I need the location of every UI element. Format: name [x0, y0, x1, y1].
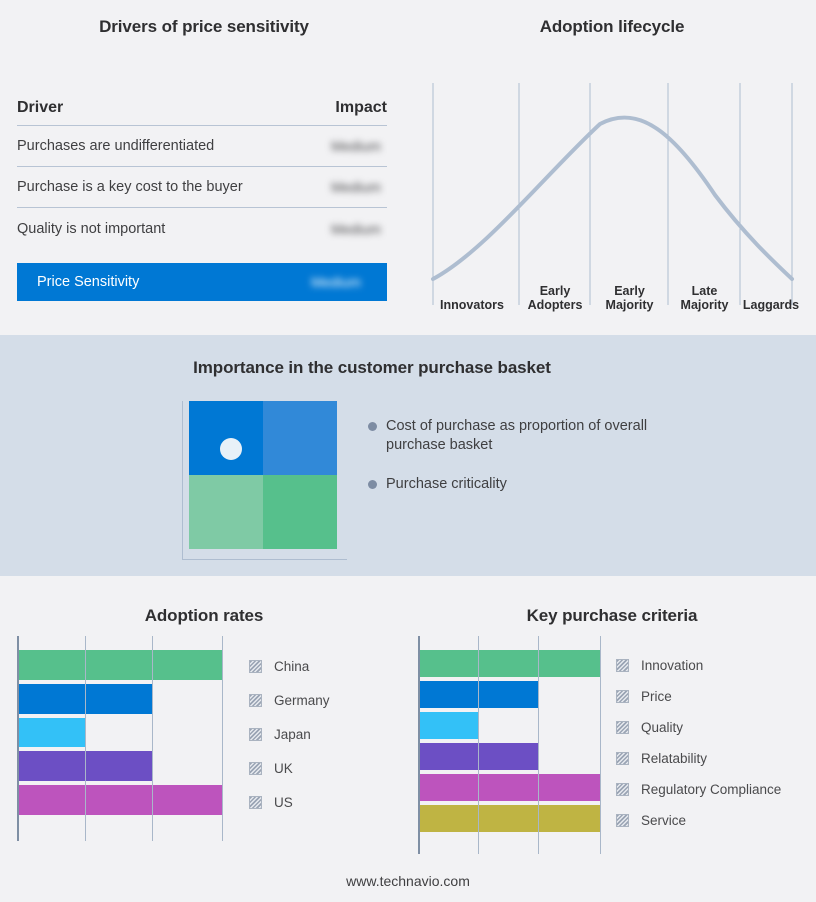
quadrant-cells [189, 401, 337, 549]
legend-label: Regulatory Compliance [641, 782, 781, 797]
gridline [85, 636, 86, 841]
stage-label-late-majority: Late Majority [670, 284, 739, 312]
legend-swatch-icon [249, 762, 262, 775]
legend-label: Cost of purchase as proportion of overal… [386, 417, 648, 455]
driver-label: Quality is not important [17, 221, 165, 237]
bar-china [17, 650, 222, 680]
key-purchase-criteria-title: Key purchase criteria [408, 606, 816, 626]
bell-curve-path [433, 118, 792, 279]
legend-item: Germany [249, 684, 330, 718]
legend-label: Germany [274, 693, 330, 708]
lifecycle-title: Adoption lifecycle [408, 17, 816, 37]
gridline [152, 636, 153, 841]
bar-service [418, 805, 600, 832]
adoption-rates-chart: ChinaGermanyJapanUKUS [17, 636, 391, 841]
adoption-rates-panel: Adoption rates ChinaGermanyJapanUKUS [0, 576, 408, 902]
quadrant-top-right [263, 401, 337, 475]
legend-label: Quality [641, 720, 683, 735]
legend-label: UK [274, 761, 293, 776]
driver-label: Purchase is a key cost to the buyer [17, 179, 243, 195]
quadrant-y-axis [182, 401, 183, 559]
value-axis [17, 636, 19, 841]
gridline [478, 636, 479, 854]
column-header-driver: Driver [17, 99, 63, 117]
key-purchase-criteria-chart: InnovationPriceQualityRelatabilityRegula… [410, 636, 810, 854]
adoption-lifecycle-panel: Adoption lifecycle Innovators Early Adop… [408, 0, 816, 335]
legend-swatch-icon [249, 796, 262, 809]
bullet-icon [368, 422, 377, 431]
legend-item: UK [249, 751, 330, 785]
legend-swatch-icon [616, 659, 629, 672]
impact-value-blurred: Medium [305, 274, 367, 290]
bar-innovation [418, 650, 600, 677]
quadrant-matrix [182, 401, 347, 566]
legend-swatch-icon [616, 783, 629, 796]
drivers-table: Driver Impact Purchases are undifferenti… [17, 90, 387, 301]
bar-us [17, 785, 222, 815]
criteria-legend: InnovationPriceQualityRelatabilityRegula… [616, 650, 781, 836]
stage-label-laggards: Laggards [742, 298, 800, 312]
lifecycle-stage-labels: Innovators Early Adopters Early Majority… [425, 272, 799, 312]
quadrant-bottom-right [263, 475, 337, 549]
table-header-row: Driver Impact [17, 90, 387, 126]
impact-value-blurred: Medium [325, 138, 387, 154]
legend-item: US [249, 785, 330, 819]
driver-label: Price Sensitivity [37, 274, 139, 290]
table-row: Quality is not important Medium [17, 208, 387, 249]
criteria-plot-area [418, 636, 600, 854]
purchase-basket-panel: Importance in the customer purchase bask… [0, 335, 816, 576]
drivers-panel: Drivers of price sensitivity Driver Impa… [0, 0, 408, 335]
adoption-plot-area [17, 636, 222, 841]
bar-japan [17, 718, 85, 748]
legend-label: China [274, 659, 309, 674]
legend-label: Japan [274, 727, 311, 742]
gridline [222, 636, 223, 841]
legend-label: US [274, 795, 293, 810]
key-purchase-criteria-panel: Key purchase criteria InnovationPriceQua… [408, 576, 816, 902]
gridline [600, 636, 601, 854]
driver-label: Purchases are undifferentiated [17, 138, 214, 154]
legend-swatch-icon [249, 660, 262, 673]
legend-item: China [249, 650, 330, 684]
stage-label-early-adopters: Early Adopters [521, 284, 589, 312]
legend-label: Purchase criticality [386, 475, 507, 494]
bar-quality [418, 712, 478, 739]
bullet-icon [368, 480, 377, 489]
footer-url: www.technavio.com [0, 873, 816, 889]
table-row: Purchase is a key cost to the buyer Medi… [17, 167, 387, 208]
legend-item: Relatability [616, 743, 781, 774]
gridline [538, 636, 539, 854]
quadrant-bottom-left [189, 475, 263, 549]
legend-swatch-icon [616, 690, 629, 703]
table-row: Purchases are undifferentiated Medium [17, 126, 387, 167]
legend-item: Price [616, 681, 781, 712]
legend-swatch-icon [616, 814, 629, 827]
legend-swatch-icon [249, 728, 262, 741]
impact-value-blurred: Medium [325, 221, 387, 237]
adoption-legend: ChinaGermanyJapanUKUS [249, 650, 330, 819]
legend-label: Innovation [641, 658, 703, 673]
legend-item: Innovation [616, 650, 781, 681]
legend-item: Purchase criticality [368, 475, 668, 494]
legend-label: Relatability [641, 751, 707, 766]
legend-label: Price [641, 689, 672, 704]
legend-swatch-icon [249, 694, 262, 707]
stage-label-early-majority: Early Majority [592, 284, 667, 312]
legend-swatch-icon [616, 752, 629, 765]
legend-swatch-icon [616, 721, 629, 734]
stage-label-innovators: Innovators [425, 298, 519, 312]
quadrant-x-axis [182, 559, 347, 560]
bar-regulatory-compliance [418, 774, 600, 801]
legend-item: Regulatory Compliance [616, 774, 781, 805]
position-marker-dot [220, 438, 242, 460]
adoption-rates-title: Adoption rates [0, 606, 408, 626]
price-sensitivity-highlight-row: Price Sensitivity Medium [17, 263, 387, 301]
legend-item: Quality [616, 712, 781, 743]
value-axis [418, 636, 420, 854]
impact-value-blurred: Medium [325, 179, 387, 195]
column-header-impact: Impact [335, 99, 387, 117]
legend-item: Cost of purchase as proportion of overal… [368, 417, 668, 455]
legend-label: Service [641, 813, 686, 828]
basket-title: Importance in the customer purchase bask… [0, 358, 744, 378]
drivers-title: Drivers of price sensitivity [0, 17, 408, 37]
basket-legend: Cost of purchase as proportion of overal… [368, 417, 668, 514]
legend-item: Service [616, 805, 781, 836]
legend-item: Japan [249, 718, 330, 752]
